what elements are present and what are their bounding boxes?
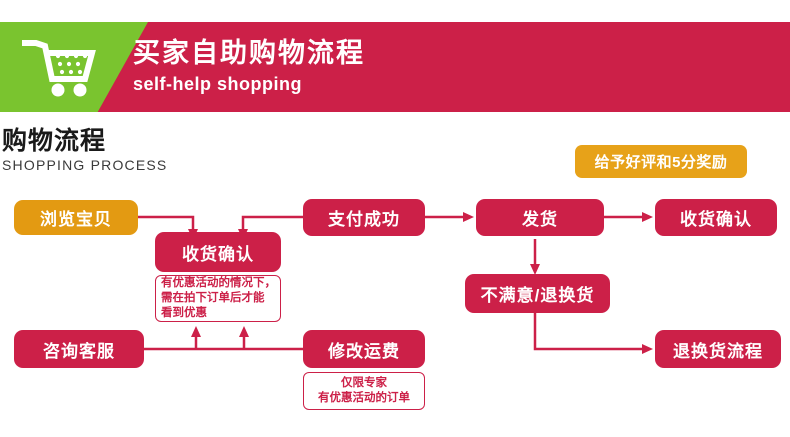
arrowhead-to-receipt-confirm-2 [642,212,653,222]
flow-node-receipt-confirm-2[interactable]: 收货确认 [655,199,777,236]
flow-node-browse-item[interactable]: 浏览宝贝 [14,200,138,235]
arrowhead-to-return-process [642,344,653,354]
note-line: 需在拍下订单后才能 [161,291,265,306]
shopping-process-infographic: 买家自助购物流程 self-help shopping 购物流程 SHOPPIN… [0,0,790,437]
flow-node-dissatisfied[interactable]: 不满意/退换货 [465,274,610,313]
note-line: 有优惠活动的情况下， [161,276,276,291]
flow-node-shipped[interactable]: 发货 [476,199,604,236]
flow-node-return-process[interactable]: 退换货流程 [655,330,781,368]
section-title-en: SHOPPING PROCESS [2,156,167,174]
note-shipping-condition: 仅限专家 有优惠活动的订单 [303,372,425,410]
note-line: 看到优惠 [161,306,207,321]
award-badge: 给予好评和5分奖励 [575,145,747,178]
note-line: 仅限专家 [341,376,387,391]
banner-subtitle: self-help shopping [133,72,365,96]
flow-node-modify-shipping[interactable]: 修改运费 [303,330,425,368]
note-line: 有优惠活动的订单 [318,391,410,406]
banner-title: 买家自助购物流程 [133,34,365,72]
arrowhead-to-shipped [463,212,474,222]
note-discount-condition: 有优惠活动的情况下， 需在拍下订单后才能 看到优惠 [155,275,281,322]
shopping-cart-icon [22,39,98,97]
section-heading: 购物流程 SHOPPING PROCESS [2,126,167,174]
arrowhead-up-discount-note-a [191,326,201,337]
flow-node-receipt-confirm-1[interactable]: 收货确认 [155,232,281,272]
flow-node-payment-success[interactable]: 支付成功 [303,199,425,236]
page-banner: 买家自助购物流程 self-help shopping [0,22,790,112]
arrowhead-up-discount-note-b [239,326,249,337]
section-title-cn: 购物流程 [2,126,167,156]
banner-text-block: 买家自助购物流程 self-help shopping [133,34,365,96]
flow-node-contact-service[interactable]: 咨询客服 [14,330,144,368]
